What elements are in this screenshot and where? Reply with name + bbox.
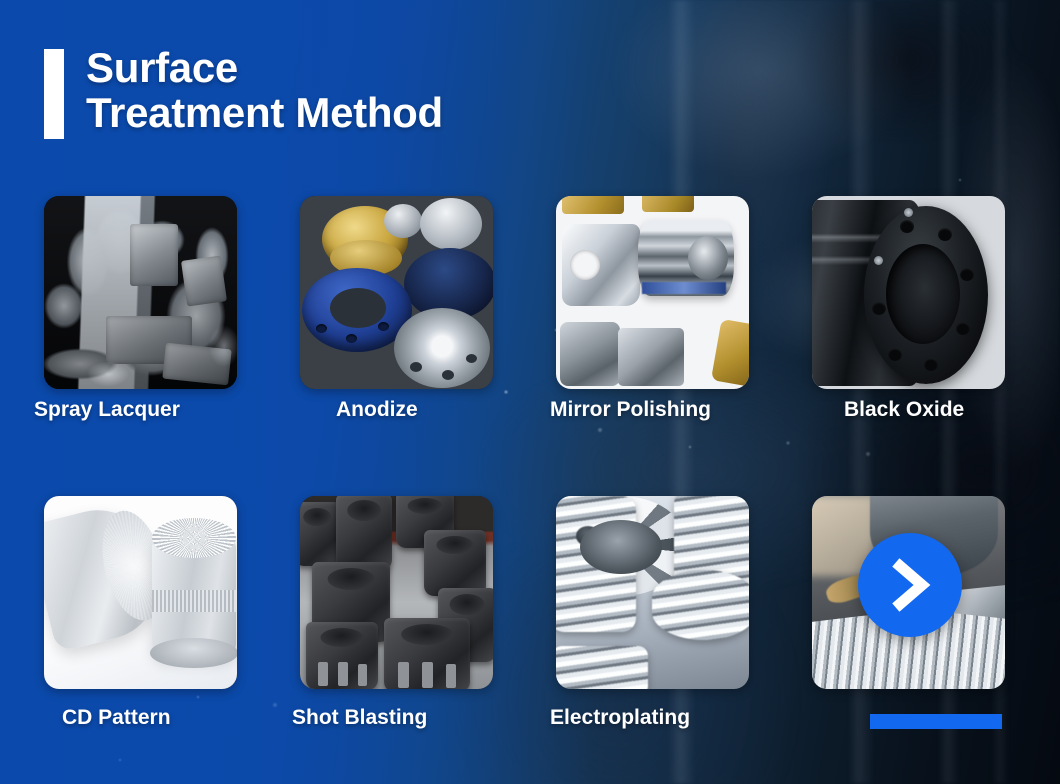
thumbnail-spray-lacquer[interactable]: [44, 196, 237, 389]
image-cd-pattern: [44, 496, 237, 689]
card-row-top: Spray Lacquer: [44, 196, 1016, 389]
card-label: Mirror Polishing: [550, 398, 711, 422]
card-label-wrap: Spray Lacquer: [34, 398, 180, 422]
card-label: CD Pattern: [62, 706, 171, 730]
card-label-wrap: Electroplating: [550, 706, 690, 730]
next-slide-button[interactable]: [858, 533, 962, 637]
card-label-wrap: Black Oxide: [844, 398, 964, 422]
card-label-wrap: Anodize: [336, 398, 418, 422]
image-shot-blasting: [300, 496, 493, 689]
card-mirror-polishing[interactable]: Mirror Polishing: [556, 196, 749, 389]
accent-bar: [44, 49, 64, 139]
banner-header: Surface Treatment Method: [44, 46, 443, 139]
card-label: Black Oxide: [844, 398, 964, 422]
image-black-oxide: [812, 196, 1005, 389]
thumbnail-black-oxide[interactable]: [812, 196, 1005, 389]
card-anodize[interactable]: Anodize: [300, 196, 493, 389]
thumbnail-anodize[interactable]: [300, 196, 493, 389]
thumbnail-electroplating[interactable]: [556, 496, 749, 689]
card-shot-blasting[interactable]: Shot Blasting: [300, 496, 493, 689]
card-label-wrap: Shot Blasting: [292, 706, 427, 730]
card-label: Anodize: [336, 398, 418, 422]
card-label-wrap: CD Pattern: [62, 706, 171, 730]
card-spray-lacquer[interactable]: Spray Lacquer: [44, 196, 237, 389]
image-spray-lacquer: [44, 196, 237, 389]
page-title: Surface Treatment Method: [86, 46, 443, 139]
thumbnail-mirror-polishing[interactable]: [556, 196, 749, 389]
chevron-right-icon: [887, 558, 933, 612]
card-label-wrap: Mirror Polishing: [550, 398, 711, 422]
card-label: Shot Blasting: [292, 706, 427, 730]
card-label: Electroplating: [550, 706, 690, 730]
slide-progress-bar[interactable]: [870, 714, 1002, 729]
thumbnail-cd-pattern[interactable]: [44, 496, 237, 689]
card-label: Spray Lacquer: [34, 398, 180, 422]
image-anodize: [300, 196, 493, 389]
image-mirror-polishing: [556, 196, 749, 389]
card-cd-pattern[interactable]: CD Pattern: [44, 496, 237, 689]
card-black-oxide[interactable]: Black Oxide: [812, 196, 1005, 389]
surface-treatment-banner: Surface Treatment Method Spray Lacquer: [0, 0, 1060, 784]
thumbnail-shot-blasting[interactable]: [300, 496, 493, 689]
image-electroplating: [556, 496, 749, 689]
card-electroplating[interactable]: Electroplating: [556, 496, 749, 689]
